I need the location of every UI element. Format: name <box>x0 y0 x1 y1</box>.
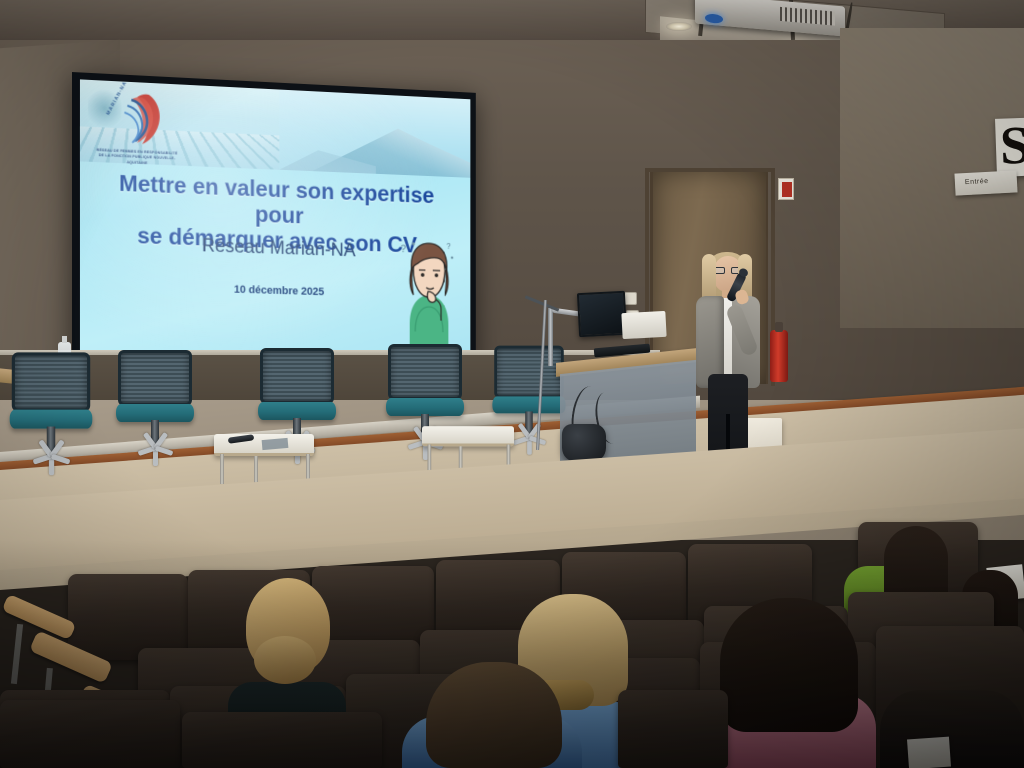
projector-lens-icon <box>705 13 723 24</box>
fire-extinguisher-icon <box>770 330 788 382</box>
chair-base <box>120 446 190 468</box>
table-leg <box>428 444 432 472</box>
attendee-brunette-front-hair <box>426 662 562 768</box>
projection-screen: MARIAN-NA RÉSEAU DE FEMMES EN RESPONSABI… <box>72 72 476 389</box>
attendee-rear-right <box>880 690 1024 768</box>
logo-caption: RÉSEAU DE FEMMES EN RESPONSABILITÉ DE LA… <box>94 148 180 168</box>
ceiling-spotlight <box>666 22 692 31</box>
stage-chair[interactable] <box>5 352 96 481</box>
wall-sign-small-text: Entrée <box>954 170 1017 186</box>
projector-vent <box>780 7 835 26</box>
svg-text:?: ? <box>400 243 406 255</box>
desk-printer <box>621 311 666 339</box>
attendee-dark-hair-right <box>706 598 876 768</box>
chair-back <box>260 348 334 404</box>
stage-chair[interactable] <box>112 350 198 472</box>
mountain-landscape-photo <box>279 90 470 178</box>
presentation-slide: MARIAN-NA RÉSEAU DE FEMMES EN RESPONSABI… <box>80 79 470 383</box>
armrest-post <box>11 624 23 684</box>
audience-seat[interactable] <box>618 690 728 768</box>
wall-sign-large-text: S <box>999 117 1024 177</box>
wall-sign-large: S <box>995 117 1024 177</box>
svg-text:?: ? <box>447 242 452 251</box>
desk-monitor[interactable] <box>577 291 627 337</box>
equipment-bag <box>562 424 606 462</box>
table-leg <box>220 454 224 484</box>
logo-woman-profile-icon <box>116 91 167 147</box>
audience-seat[interactable] <box>182 712 382 768</box>
chair-back <box>494 346 564 399</box>
conference-room-photo: S Entrée MARIAN-NA <box>0 0 1024 768</box>
audience-seat[interactable] <box>0 700 180 768</box>
attendee-brunette-front <box>402 668 582 768</box>
attendee-rear-right-hair <box>880 690 1024 768</box>
attendee-blonde-bun-knot <box>254 636 316 684</box>
attendee-rear-right-paper <box>907 737 951 768</box>
chair-back <box>12 352 90 411</box>
chair-back <box>118 350 192 406</box>
fire-extinguisher-sign-icon <box>778 178 794 200</box>
marian-na-logo: MARIAN-NA RÉSEAU DE FEMMES EN RESPONSABI… <box>94 88 180 167</box>
chair-base <box>14 454 88 477</box>
attendee-dark-hair-right-hair <box>720 598 858 732</box>
low-table-top <box>422 426 514 446</box>
wall-socket[interactable] <box>624 292 637 305</box>
monitor-pole <box>548 308 553 366</box>
chair-back <box>388 344 462 400</box>
wall-sign-small: Entrée <box>954 170 1017 195</box>
